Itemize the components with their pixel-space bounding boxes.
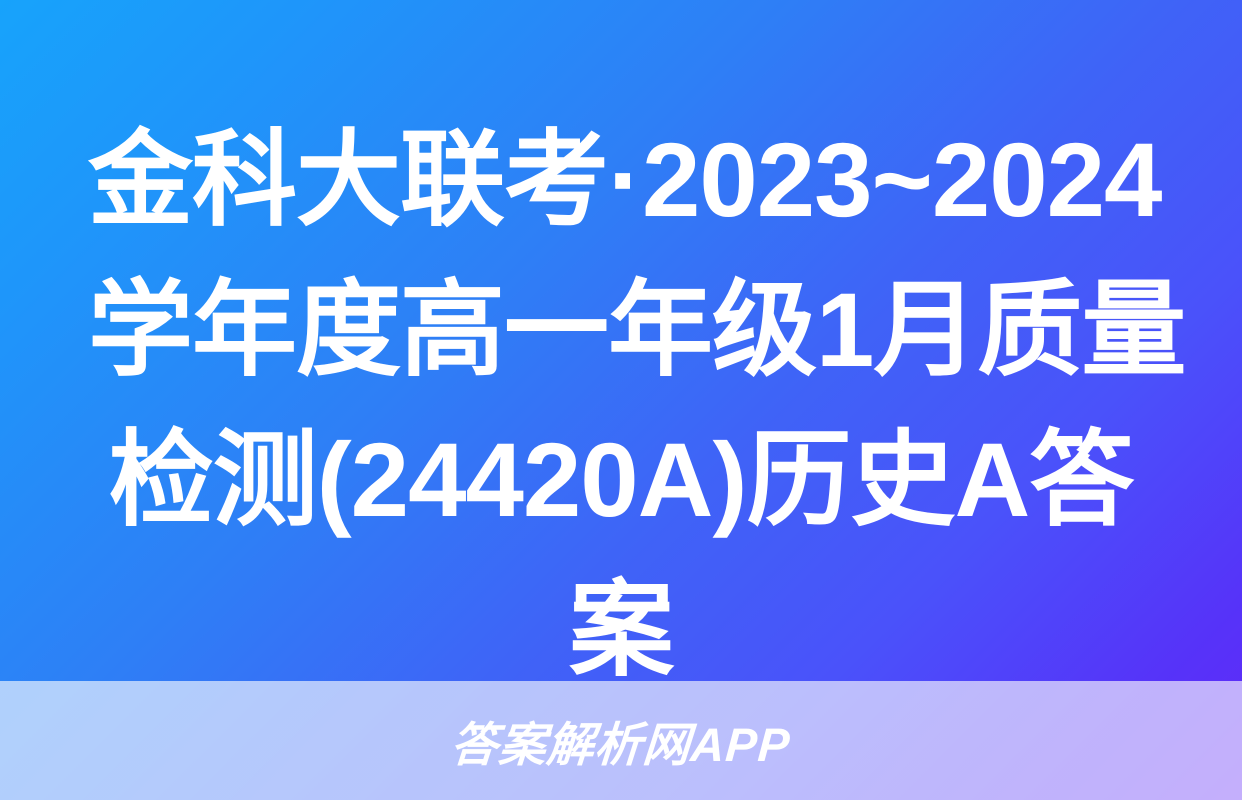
watermark-bar: 答案解析网APP	[0, 681, 1242, 800]
watermark-text: 答案解析网APP	[449, 706, 793, 775]
page-title: 金科大联考·2023~2024 学年度高一年级1月质量 检测(24420A)历史…	[0, 106, 1242, 706]
title-line-3: 检测(24420A)历史A答	[88, 406, 1154, 556]
exam-cover-card: 金科大联考·2023~2024 学年度高一年级1月质量 检测(24420A)历史…	[0, 0, 1242, 800]
title-line-2: 学年度高一年级1月质量	[88, 256, 1154, 406]
title-line-1: 金科大联考·2023~2024	[88, 106, 1154, 256]
